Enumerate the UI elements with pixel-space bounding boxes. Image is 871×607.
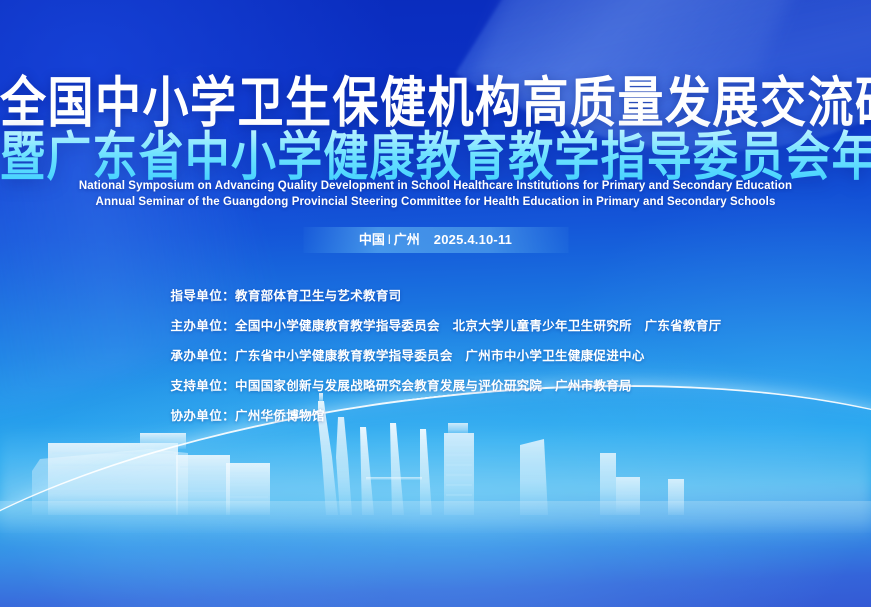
- event-poster: 全国中小学卫生保健机构高质量发展交流研讨活动 暨广东省中小学健康教育教学指导委员…: [0, 0, 871, 607]
- badge-city: 广州: [394, 232, 420, 247]
- organization-label: 协办单位：: [171, 409, 236, 423]
- organization-value: 中国国家创新与发展战略研究会教育发展与评价研究院 广州市教育局: [235, 379, 632, 393]
- title-english-line-1: National Symposium on Advancing Quality …: [0, 180, 871, 192]
- organization-value: 教育部体育卫生与艺术教育司: [235, 289, 401, 303]
- title-chinese-line-2: 暨广东省中小学健康教育教学指导委员会年度研讨活动: [0, 128, 871, 186]
- location-date-badge: 中国l广州2025.4.10-11: [303, 227, 568, 253]
- organization-value: 广州华侨博物馆: [235, 409, 325, 423]
- title-chinese-line-1: 全国中小学卫生保健机构高质量发展交流研讨活动: [0, 72, 871, 133]
- organization-label: 承办单位：: [171, 349, 236, 363]
- organization-row: 协办单位：广州华侨博物馆: [171, 408, 701, 425]
- organization-value: 广东省中小学健康教育教学指导委员会 广州市中小学卫生健康促进中心: [235, 349, 645, 363]
- title-english-line-2: Annual Seminar of the Guangdong Provinci…: [0, 196, 871, 208]
- badge-separator: l: [385, 232, 394, 247]
- organization-row: 主办单位：全国中小学健康教育教学指导委员会 北京大学儿童青少年卫生研究所 广东省…: [171, 318, 701, 335]
- organization-label: 指导单位：: [171, 289, 236, 303]
- organization-row: 指导单位：教育部体育卫生与艺术教育司: [171, 288, 701, 305]
- organizations-list: 指导单位：教育部体育卫生与艺术教育司 主办单位：全国中小学健康教育教学指导委员会…: [0, 288, 871, 438]
- organization-row: 支持单位：中国国家创新与发展战略研究会教育发展与评价研究院 广州市教育局: [171, 378, 701, 395]
- badge-date: 2025.4.10-11: [420, 232, 512, 247]
- organization-value: 全国中小学健康教育教学指导委员会 北京大学儿童青少年卫生研究所 广东省教育厅: [235, 319, 721, 333]
- organization-row: 承办单位：广东省中小学健康教育教学指导委员会 广州市中小学卫生健康促进中心: [171, 348, 701, 365]
- badge-country: 中国: [359, 232, 385, 247]
- organization-label: 支持单位：: [171, 379, 236, 393]
- organization-label: 主办单位：: [171, 319, 236, 333]
- poster-content: 全国中小学卫生保健机构高质量发展交流研讨活动 暨广东省中小学健康教育教学指导委员…: [0, 0, 871, 607]
